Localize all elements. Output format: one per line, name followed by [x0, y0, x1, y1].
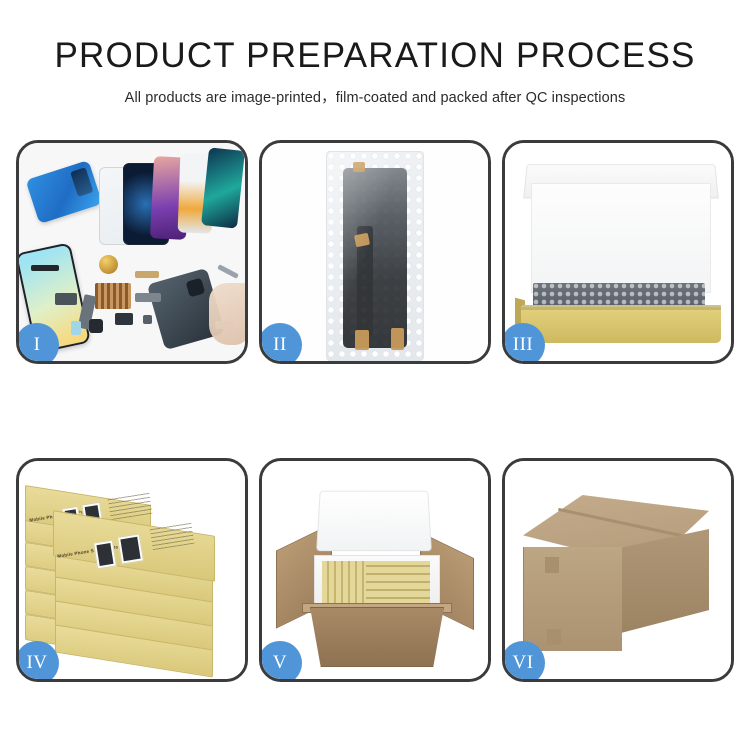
carton-tab-graphic — [545, 557, 559, 573]
step-badge-4: IV — [16, 641, 59, 682]
step-5-image — [262, 461, 488, 679]
page-subtitle: All products are image-printed，film-coat… — [0, 86, 750, 107]
step-1-image — [19, 143, 245, 361]
process-step-panel-2: II — [259, 140, 491, 364]
part-graphic — [71, 321, 81, 335]
step-badge-3: III — [502, 323, 545, 364]
foam-cooler-lid-graphic — [316, 491, 432, 551]
process-step-panel-1: I — [16, 140, 248, 364]
page-title: PRODUCT PREPARATION PROCESS — [0, 38, 750, 75]
part-graphic — [115, 313, 133, 325]
chip-array-graphic — [95, 283, 131, 309]
bag-gloss-overlay — [327, 152, 423, 360]
packed-boxes-graphic — [322, 561, 430, 605]
hand-graphic — [209, 283, 245, 345]
process-steps-grid: I II — [16, 140, 734, 682]
foam-sheet-graphic — [531, 183, 711, 293]
adhesive-sheet-graphic — [26, 160, 103, 224]
part-graphic — [143, 315, 152, 324]
box-label-image — [93, 540, 117, 570]
carton-body-graphic — [310, 607, 444, 667]
header: PRODUCT PREPARATION PROCESS All products… — [0, 0, 750, 107]
step-2-image — [262, 143, 488, 361]
speaker-part-graphic — [99, 255, 118, 274]
phone-teal-graphic — [201, 147, 245, 228]
process-step-panel-6: VI — [502, 458, 734, 682]
boxes-vertical-graphic — [322, 561, 366, 605]
boxes-horizontal-graphic — [366, 561, 430, 605]
part-graphic — [217, 264, 239, 279]
bubble-wrap-bag-graphic — [326, 151, 424, 361]
step-3-image — [505, 143, 731, 361]
carton-tab-graphic — [547, 629, 561, 645]
step-badge-6: VI — [502, 641, 545, 682]
box-label-image — [117, 533, 144, 564]
process-step-panel-5: V — [259, 458, 491, 682]
step-badge-5: V — [259, 641, 302, 682]
yellow-box-base-graphic — [521, 305, 721, 343]
carton-front-graphic — [523, 547, 622, 651]
part-graphic — [31, 265, 59, 271]
process-step-panel-3: III — [502, 140, 734, 364]
process-step-panel-4: Mobile Phone Spare Parts Mobile Phone Sp… — [16, 458, 248, 682]
step-6-image — [505, 461, 731, 679]
step-badge-2: II — [259, 323, 302, 364]
part-graphic — [135, 293, 161, 302]
part-graphic — [135, 271, 159, 278]
product-preparation-infographic: PRODUCT PREPARATION PROCESS All products… — [0, 0, 750, 750]
step-badge-1: I — [16, 323, 59, 364]
part-graphic — [89, 319, 103, 333]
part-graphic — [55, 293, 77, 305]
step-4-image: Mobile Phone Spare Parts Mobile Phone Sp… — [19, 461, 245, 679]
